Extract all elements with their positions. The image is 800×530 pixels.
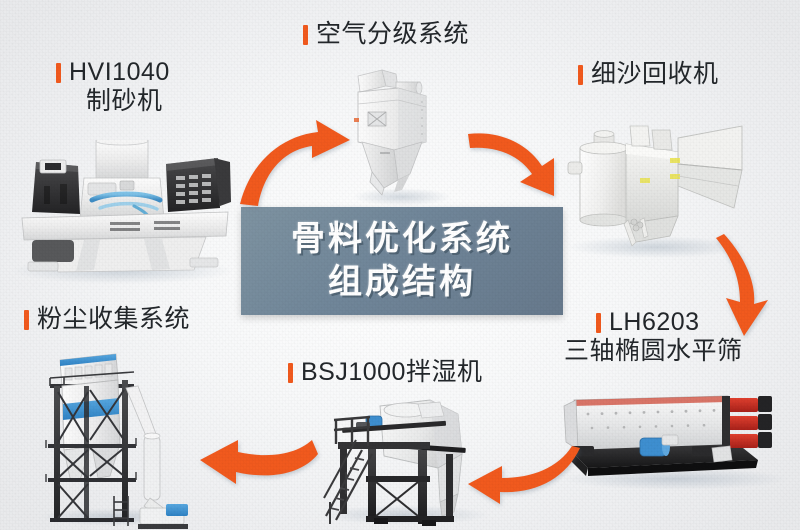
label-sand-maker: HVI1040 制砂机 — [56, 58, 170, 116]
arrow-sand-maker-to-air-classifier — [232, 102, 362, 212]
label-dust-collector-line1: 粉尘收集系统 — [37, 305, 190, 333]
bullet-icon — [56, 63, 61, 83]
machine-image-wet-mixer — [322, 398, 490, 528]
arrow-fine-sand-recycler-to-horizontal-screen — [710, 232, 780, 340]
label-wet-mixer-line1: BSJ1000拌湿机 — [301, 358, 482, 386]
bullet-icon — [288, 363, 293, 383]
label-air-classifier-line1: 空气分级系统 — [316, 20, 469, 48]
machine-image-air-classifier — [352, 68, 448, 196]
label-fine-sand-recycler: 细沙回收机 — [578, 60, 719, 89]
banner-line2: 组成结构 — [328, 261, 476, 304]
arrow-air-classifier-to-fine-sand-recycler — [466, 112, 586, 198]
machine-image-dust-collector — [40, 348, 192, 530]
label-air-classifier: 空气分级系统 — [303, 20, 469, 49]
label-horizontal-screen-line1: LH6203 — [609, 308, 700, 336]
arrow-horizontal-screen-to-wet-mixer — [466, 446, 582, 506]
label-sand-maker-line2: 制砂机 — [56, 87, 170, 116]
banner-line1: 骨料优化系统 — [291, 218, 513, 261]
label-dust-collector: 粉尘收集系统 — [24, 305, 190, 334]
label-sand-maker-line1: HVI1040 — [69, 58, 170, 86]
bullet-icon — [578, 65, 583, 85]
label-fine-sand-recycler-line1: 细沙回收机 — [591, 60, 719, 88]
label-wet-mixer: BSJ1000拌湿机 — [288, 358, 482, 387]
label-horizontal-screen-line2: 三轴椭圆水平筛 — [564, 337, 743, 366]
machine-image-horizontal-screen — [562, 390, 794, 490]
bullet-icon — [303, 25, 308, 45]
diagram-canvas: HVI1040 制砂机 — [0, 0, 800, 530]
arrow-wet-mixer-to-dust-collector — [196, 428, 320, 488]
bullet-icon — [24, 310, 29, 330]
center-banner: 骨料优化系统 组成结构 — [241, 207, 563, 315]
machine-image-fine-sand-recycler — [566, 124, 746, 248]
machine-image-sand-maker — [14, 140, 236, 275]
bullet-icon — [596, 313, 601, 333]
